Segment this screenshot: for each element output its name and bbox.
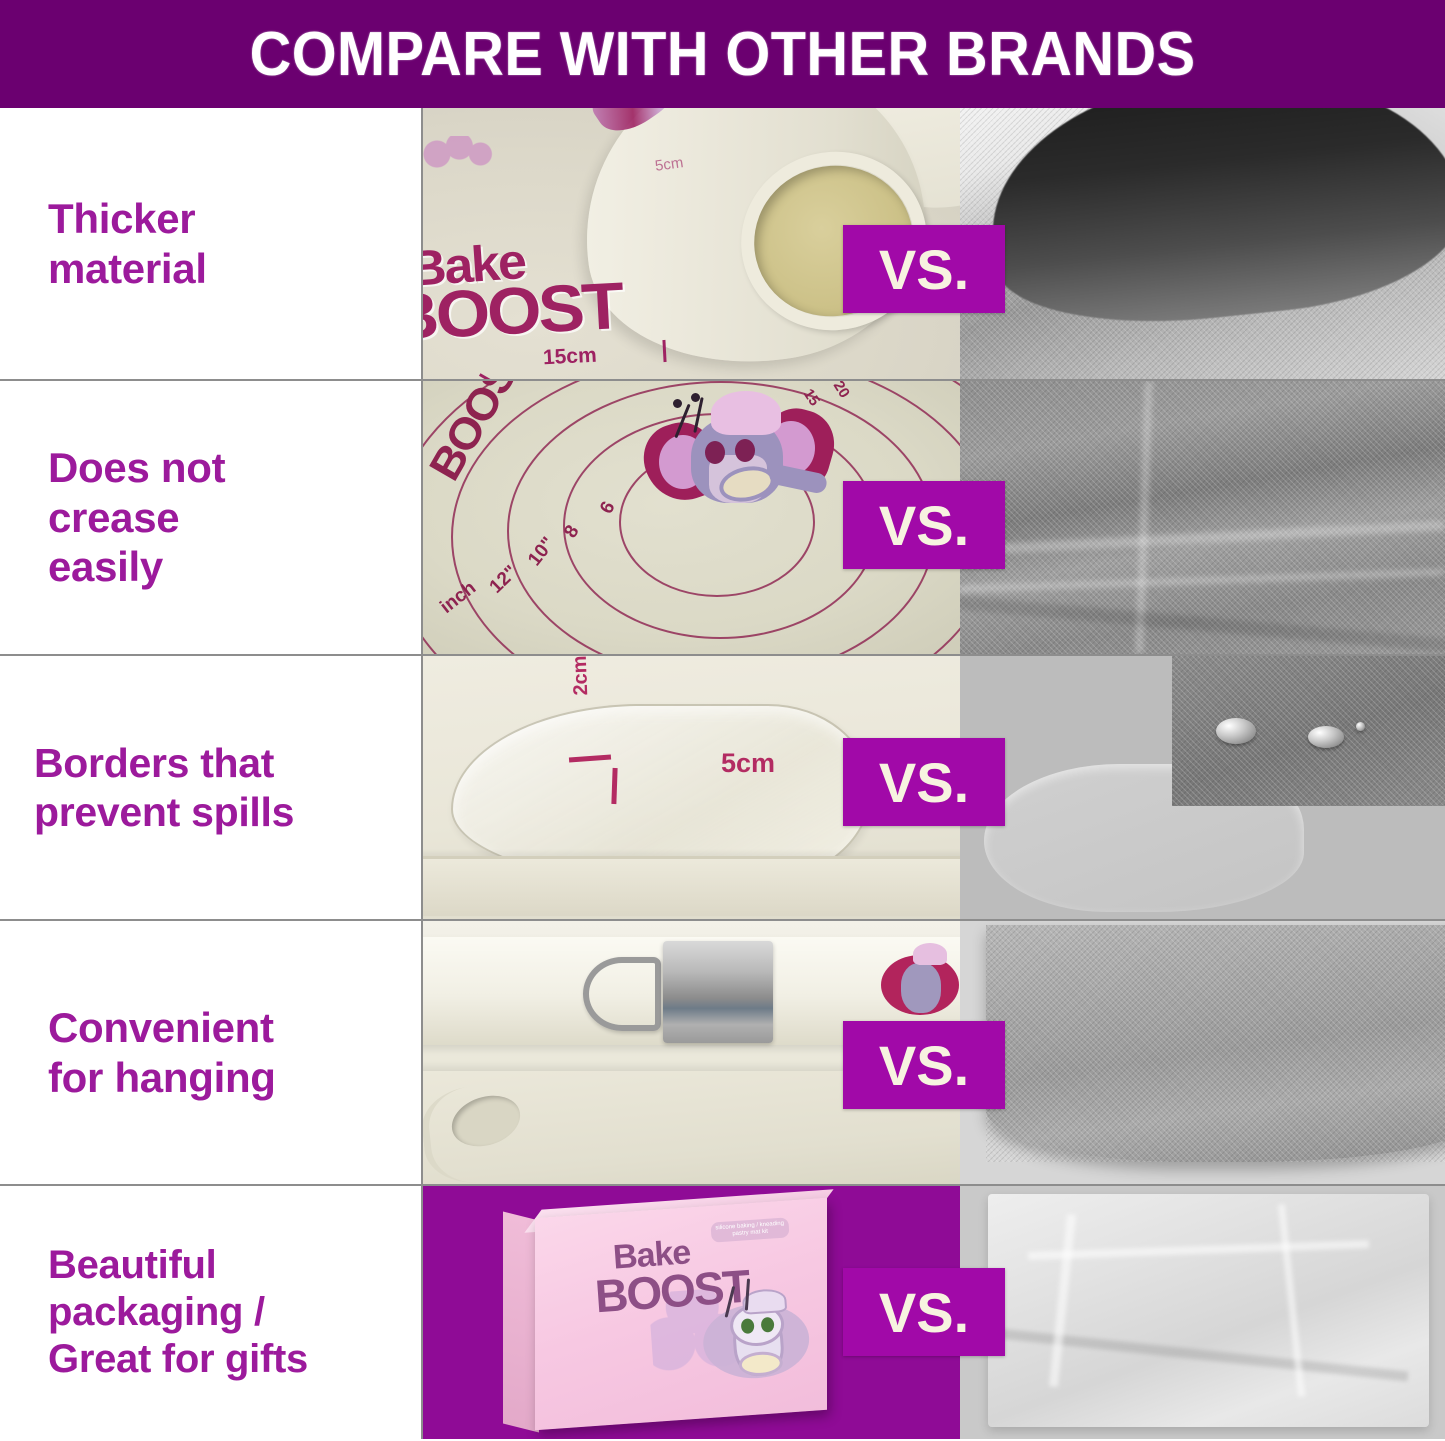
feature-label-1: Thicker material — [48, 194, 207, 293]
comparison-row-thicker-material: Thicker material Bake BOOST 5cm 15cm VS. — [0, 108, 1445, 381]
feature-label-5: Beautiful packaging / Great for gifts — [48, 1242, 308, 1384]
feature-label-cell-1: Thicker material — [0, 108, 423, 379]
mascot-eye-left — [705, 441, 725, 464]
mascot-antenna-ball-right — [691, 393, 700, 402]
vs-badge-label-1: VS. — [879, 237, 969, 302]
comparison-row-beautiful-packaging: Beautiful packaging / Great for gifts si… — [0, 1186, 1445, 1439]
feature-label-cell-4: Convenient for hanging — [0, 921, 423, 1184]
feature-label-cell-3: Borders that prevent spills — [0, 656, 423, 919]
water-droplet-2 — [1308, 726, 1344, 748]
mascot-chef-hat — [711, 391, 781, 435]
feature-label-2: Does not crease easily — [48, 443, 225, 592]
page-title: COMPARE WITH OTHER BRANDS — [250, 19, 1196, 90]
competitor-flat-mat — [1172, 656, 1445, 806]
vs-badge-3: VS. — [843, 738, 1005, 826]
mat-label-2cm: 2cm — [569, 656, 593, 696]
ruler-label-15cm: 15cm — [542, 344, 597, 371]
feature-label-4: Convenient for hanging — [48, 1003, 276, 1102]
comparison-grid: Thicker material Bake BOOST 5cm 15cm VS. — [0, 108, 1445, 1441]
vs-badge-label-4: VS. — [879, 1033, 969, 1098]
mascot-sticker-hat — [913, 943, 947, 965]
gift-box-mascot — [697, 1278, 817, 1398]
comparison-row-convenient-for-hanging: Convenient for hanging VS. — [0, 921, 1445, 1186]
brand-logo-boost: BOOST — [423, 267, 623, 355]
gift-box-side-panel — [503, 1212, 539, 1433]
weave-texture-3 — [1172, 656, 1445, 806]
comparison-row-does-not-crease: Does not crease easily BOOST 6 8 10" 12"… — [0, 381, 1445, 656]
water-droplet-1 — [1216, 718, 1256, 744]
vs-badge-label-5: VS. — [879, 1280, 969, 1345]
vs-badge-label-2: VS. — [879, 493, 969, 558]
vs-badge-label-3: VS. — [879, 750, 969, 815]
bag-fold-3 — [1049, 1214, 1076, 1387]
vs-badge-4: VS. — [843, 1021, 1005, 1109]
competitor-photo-2 — [960, 381, 1445, 654]
header-banner: COMPARE WITH OTHER BRANDS — [0, 0, 1445, 108]
feature-label-cell-2: Does not crease easily — [0, 381, 423, 654]
mascot-eye-right — [735, 439, 755, 462]
mat-label-5cm: 5cm — [721, 748, 775, 779]
mascot-antenna-ball-left — [673, 399, 682, 408]
rolling-pin-steel-band — [663, 941, 773, 1043]
competitor-poly-bag — [988, 1194, 1429, 1427]
mascot-sticker — [881, 941, 960, 1021]
bag-fold-1 — [1028, 1240, 1369, 1260]
competitor-plain-mat — [986, 925, 1445, 1162]
raised-border-rim — [423, 856, 960, 916]
water-droplet-3 — [1356, 722, 1365, 731]
mascot-illustration — [651, 395, 851, 513]
flower-print-icon — [423, 136, 493, 172]
hanging-ring-icon — [583, 957, 661, 1031]
competitor-photo-1 — [960, 108, 1445, 379]
competitor-photo-5 — [960, 1186, 1445, 1439]
vs-badge-1: VS. — [843, 225, 1005, 313]
vs-badge-2: VS. — [843, 481, 1005, 569]
competitor-photo-3 — [960, 656, 1445, 919]
feature-label-3: Borders that prevent spills — [34, 739, 294, 836]
comparison-row-borders-prevent-spills: Borders that prevent spills 2cm 5cm VS. — [0, 656, 1445, 921]
competitor-photo-4 — [960, 921, 1445, 1184]
feature-label-cell-5: Beautiful packaging / Great for gifts — [0, 1186, 423, 1439]
mascot-sticker-body — [901, 963, 941, 1013]
vs-badge-5: VS. — [843, 1268, 1005, 1356]
weave-texture-4 — [986, 925, 1445, 1162]
